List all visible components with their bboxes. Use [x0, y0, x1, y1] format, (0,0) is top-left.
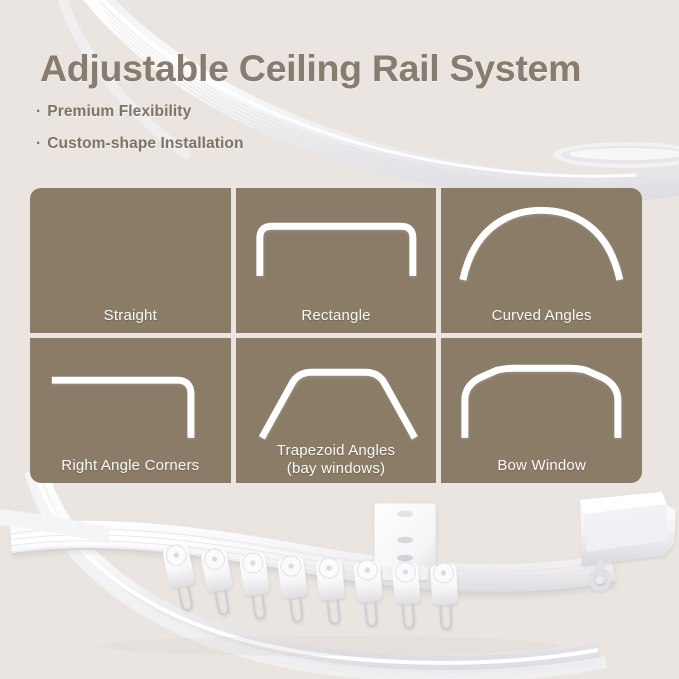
shape-cell-right-angle-corners[interactable]: Right Angle Corners	[30, 338, 231, 483]
metal-curtain-hook	[365, 601, 377, 626]
metal-curtain-hook	[215, 590, 229, 615]
end-cap-hook-icon	[591, 562, 609, 589]
top-coil-band	[80, 0, 679, 203]
bracket-screw-slot-bottom	[397, 555, 413, 562]
bottom-coil-band	[0, 468, 679, 679]
feature-bullet-1: ·Premium Flexibility	[36, 103, 244, 121]
metal-curtain-hook	[328, 599, 340, 624]
shape-cell-bow-window[interactable]: Bow Window	[441, 338, 642, 483]
glider-runner-carrier	[200, 547, 237, 617]
shape-cell-rectangle[interactable]: Rectangle	[236, 188, 437, 333]
glider-runner-carrier	[277, 555, 311, 624]
rail-end-cap-with-hook	[580, 492, 676, 589]
bracket-screw-slot-mid	[397, 537, 413, 544]
shape-cell-curved-angles-label: Curved Angles	[441, 307, 642, 325]
product-photo-curved-rail	[0, 470, 679, 679]
bullet-marker-icon: ·	[36, 103, 41, 121]
rail-track	[10, 521, 616, 593]
shape-cell-straight[interactable]: Straight	[30, 188, 231, 333]
glider-runner-carrier	[353, 559, 385, 627]
metal-curtain-hook	[178, 585, 193, 611]
metal-curtain-hook	[290, 597, 303, 622]
shape-cell-rectangle-label: Rectangle	[236, 307, 437, 325]
shape-cell-trapezoid-angles-label-line2: (bay windows)	[236, 460, 437, 478]
metal-curtain-hook	[252, 594, 265, 619]
feature-bullet-2: ·Custom-shape Installation	[36, 135, 244, 153]
shape-options-grid: Straight Rectangle Curved Angles Right A…	[30, 188, 642, 483]
glider-runner-carrier	[162, 543, 201, 613]
glider-runner-carrier	[239, 551, 274, 620]
feature-bullet-1-label: Premium Flexibility	[47, 103, 191, 120]
bullet-marker-icon: ·	[36, 135, 41, 153]
bracket-screw-slot-top	[397, 511, 413, 518]
glider-runner-carrier	[430, 562, 459, 629]
metal-curtain-hook	[440, 605, 451, 629]
carrier-row	[162, 543, 460, 630]
feature-bullet-list: ·Premium Flexibility ·Custom-shape Insta…	[36, 103, 244, 167]
shape-cell-right-angle-corners-label: Right Angle Corners	[30, 457, 231, 475]
shape-cell-trapezoid-angles-label-line1: Trapezoid Angles	[236, 442, 437, 460]
shape-cell-curved-angles[interactable]: Curved Angles	[441, 188, 642, 333]
shape-cell-trapezoid-angles-label: Trapezoid Angles (bay windows)	[236, 442, 437, 477]
page-title: Adjustable Ceiling Rail System	[40, 47, 581, 90]
ceiling-mount-bracket	[374, 503, 436, 580]
infographic-canvas: Adjustable Ceiling Rail System ·Premium …	[0, 0, 679, 679]
rail-left-tail	[0, 508, 110, 544]
feature-bullet-2-label: Custom-shape Installation	[47, 135, 243, 152]
metal-curtain-hook	[403, 604, 415, 629]
shape-cell-bow-window-label: Bow Window	[441, 457, 642, 475]
coil-mouth	[553, 142, 679, 168]
shape-cell-straight-label: Straight	[30, 307, 231, 325]
glider-runner-carrier	[392, 561, 423, 629]
glider-runner-carrier	[315, 557, 348, 625]
shape-cell-trapezoid-angles[interactable]: Trapezoid Angles (bay windows)	[236, 338, 437, 483]
